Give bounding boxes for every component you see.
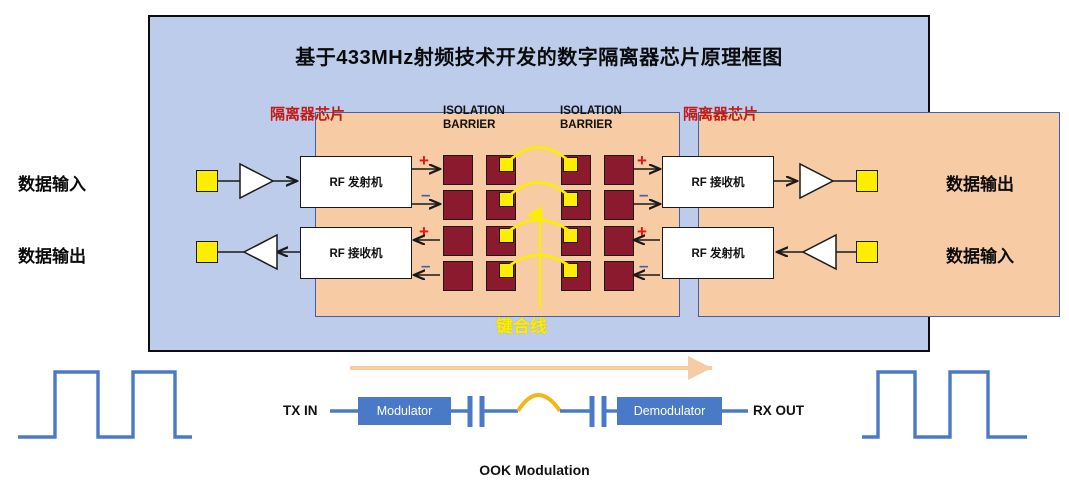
barrier-line-1: ISOLATION [443, 104, 505, 118]
tx-in-label: TX IN [283, 403, 318, 418]
polarity-plus-right-rx: + [637, 152, 647, 169]
label-right-data-output: 数据输出 [946, 170, 1014, 195]
pad-left-rx-plus-outer [486, 226, 516, 256]
bond-pad-square [499, 228, 514, 243]
chip-left-title: 隔离器芯片 [270, 103, 345, 124]
pad-right-tx-plus-inner [604, 226, 634, 256]
page-title: 基于433MHz射频技术开发的数字隔离器芯片原理框图 [150, 41, 928, 70]
pad-left-tx-plus-outer [486, 155, 516, 185]
barrier-line-2: BARRIER [443, 118, 505, 132]
pad-left-rx-minus-outer [486, 261, 516, 291]
polarity-minus-right-tx: – [639, 257, 648, 274]
io-pad-right-out [856, 170, 878, 192]
polarity-plus-left-tx: + [419, 152, 429, 169]
waveform-left [18, 372, 192, 437]
pad-left-rx-minus-inner [443, 261, 473, 291]
bond-pad-square [563, 263, 578, 278]
rf-block-right-transmitter: RF 发射机 [662, 227, 774, 279]
io-pad-right-in [856, 241, 878, 263]
isolation-barrier-label-left: ISOLATION BARRIER [443, 104, 505, 133]
rx-out-label: RX OUT [753, 403, 804, 418]
barrier-line-1: ISOLATION [560, 104, 622, 118]
label-right-data-input: 数据输入 [946, 242, 1014, 267]
pad-right-rx-minus-outer [561, 190, 591, 220]
pad-left-tx-minus-outer [486, 190, 516, 220]
pad-left-rx-plus-inner [443, 226, 473, 256]
label-left-data-output: 数据输出 [18, 242, 86, 267]
pad-right-tx-minus-outer [561, 261, 591, 291]
bond-pad-square [499, 263, 514, 278]
pad-left-tx-plus-inner [443, 155, 473, 185]
polarity-minus-right-rx: – [639, 186, 648, 203]
isolation-barrier-label-right: ISOLATION BARRIER [560, 104, 622, 133]
rf-block-left-receiver: RF 接收机 [300, 227, 412, 279]
pad-right-rx-minus-inner [604, 190, 634, 220]
polarity-minus-left-tx: – [421, 186, 430, 203]
io-pad-left-in [196, 170, 218, 192]
rf-block-right-receiver: RF 接收机 [662, 156, 774, 208]
bond-pad-square [563, 157, 578, 172]
polarity-plus-left-rx: + [419, 223, 429, 240]
ook-modulation-caption: OOK Modulation [0, 462, 1069, 478]
diagram-canvas: 基于433MHz射频技术开发的数字隔离器芯片原理框图 隔离器芯片 隔离器芯片 I… [0, 0, 1069, 499]
isolator-chip-right [698, 112, 1060, 317]
bondwire-label: 键合线 [496, 312, 547, 337]
bond-pad-square [499, 192, 514, 207]
pad-right-rx-plus-outer [561, 155, 591, 185]
label-left-data-input: 数据输入 [18, 170, 86, 195]
bond-pad-square [499, 157, 514, 172]
waveform-right [862, 372, 1027, 437]
bondwire-arc-bottom [518, 395, 560, 411]
polarity-minus-left-rx: – [421, 257, 430, 274]
polarity-plus-right-tx: + [637, 223, 647, 240]
rf-block-left-transmitter: RF 发射机 [300, 156, 412, 208]
pad-right-rx-plus-inner [604, 155, 634, 185]
bond-pad-square [563, 228, 578, 243]
pad-right-tx-minus-inner [604, 261, 634, 291]
demodulator-block: Demodulator [617, 397, 722, 425]
chip-right-title: 隔离器芯片 [683, 103, 758, 124]
pad-right-tx-plus-outer [561, 226, 591, 256]
block-diagram-panel: 基于433MHz射频技术开发的数字隔离器芯片原理框图 [148, 15, 930, 352]
io-pad-left-out [196, 241, 218, 263]
modulator-block: Modulator [358, 397, 451, 425]
pad-left-tx-minus-inner [443, 190, 473, 220]
barrier-line-2: BARRIER [560, 118, 622, 132]
bond-pad-square [563, 192, 578, 207]
